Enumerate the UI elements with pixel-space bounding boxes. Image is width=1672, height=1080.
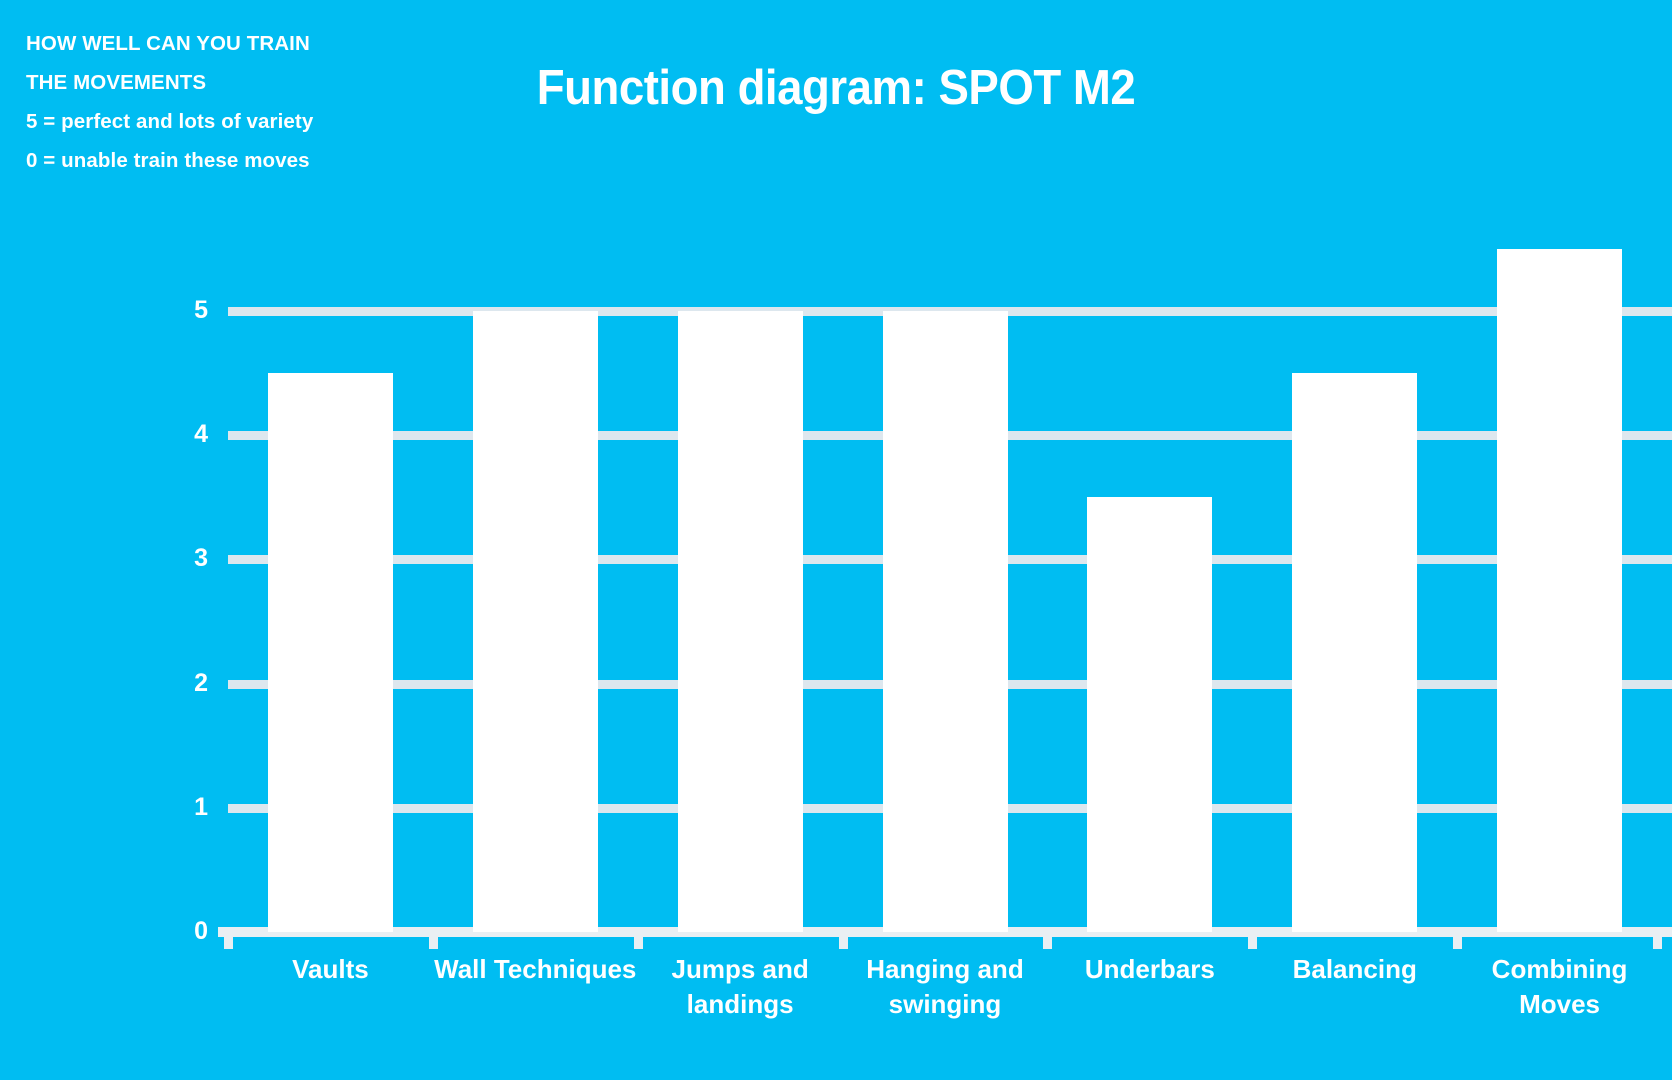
bar	[268, 373, 393, 932]
x-axis-category-label: Combining Moves	[1457, 952, 1662, 1022]
y-axis-tick-label: 2	[148, 671, 208, 696]
bar	[473, 311, 598, 932]
x-axis-tick	[839, 932, 848, 949]
y-axis-tick-label: 3	[148, 546, 208, 571]
x-axis-tick-end	[1653, 932, 1662, 949]
bar	[1087, 497, 1212, 932]
bar	[1292, 373, 1417, 932]
x-axis-category-label: Underbars	[1047, 952, 1252, 987]
x-axis-tick	[634, 932, 643, 949]
x-axis-category-label: Vaults	[228, 952, 433, 987]
y-axis-tick-label: 4	[148, 422, 208, 447]
x-axis-tick	[1043, 932, 1052, 949]
x-axis-tick	[1453, 932, 1462, 949]
x-axis-category-label: Hanging and swinging	[843, 952, 1048, 1022]
y-axis-tick-label: 1	[148, 795, 208, 820]
bar	[883, 311, 1008, 932]
x-axis-category-label: Wall Techniques	[433, 952, 638, 987]
y-axis-tick-label: 0	[148, 919, 208, 944]
x-axis-tick	[224, 932, 233, 949]
x-axis-category-label: Balancing	[1252, 952, 1457, 987]
x-axis-category-label: Jumps and landings	[638, 952, 843, 1022]
bar-chart-plot-area: 543210VaultsWall TechniquesJumps and lan…	[0, 0, 1672, 1080]
y-axis-tick-label: 5	[148, 298, 208, 323]
x-axis-tick	[429, 932, 438, 949]
bar	[1497, 249, 1622, 932]
bar	[678, 311, 803, 932]
x-axis-tick	[1248, 932, 1257, 949]
